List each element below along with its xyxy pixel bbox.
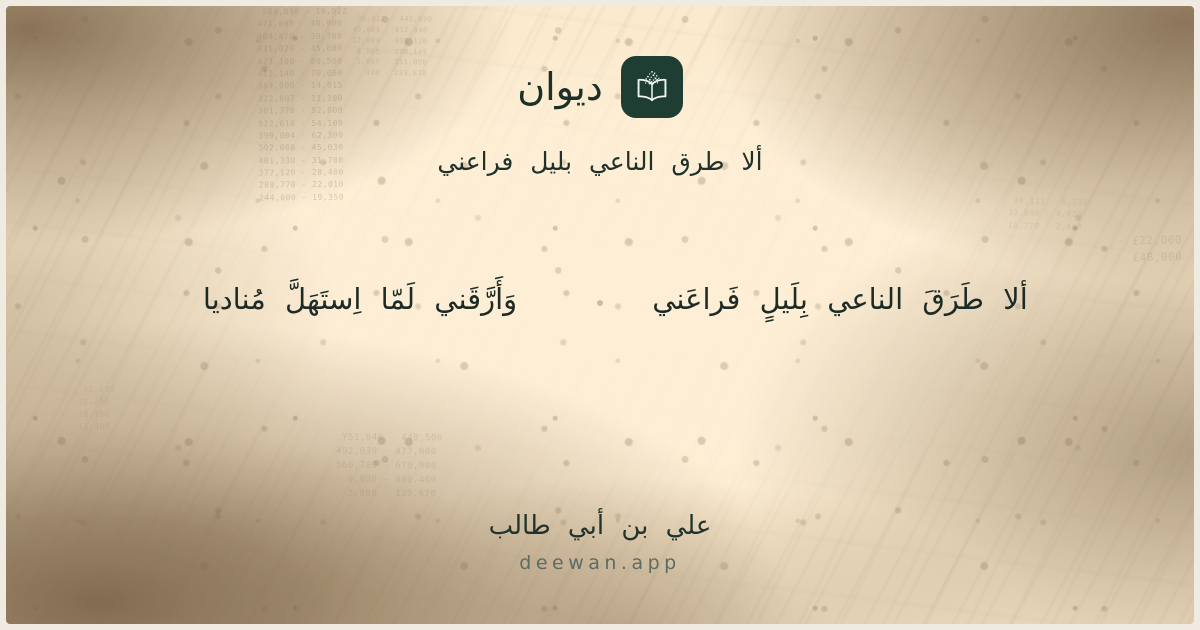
brand-header: ديوان [517, 56, 683, 118]
open-book-sparkles-icon [621, 56, 683, 118]
verse-first-hemistich: ألا طَرَقَ الناعي بِلَيلٍ فَراعَني [625, 276, 1055, 322]
poster-footer: علي بن أبي طالب deewan.app [489, 510, 712, 574]
verse-line: ألا طَرَقَ الناعي بِلَيلٍ فَراعَني وَأَر… [0, 276, 1200, 322]
site-url: deewan.app [519, 552, 680, 574]
brand-name: ديوان [517, 68, 603, 106]
poster-content: ديوان ألا طرق الناعي بليل فراعني ألا طَر… [0, 0, 1200, 630]
verse-second-hemistich: وَأَرَّقَني لَمّا اِستَهَلَّ مُناديا [145, 276, 575, 322]
poet-name: علي بن أبي طالب [489, 510, 712, 544]
poster-card: 10,022 - 584,090 48,900 - 471,005 39,700… [0, 0, 1200, 630]
dot-separator-icon [597, 300, 603, 306]
poem-title: ألا طرق الناعي بليل فراعني [437, 144, 762, 180]
